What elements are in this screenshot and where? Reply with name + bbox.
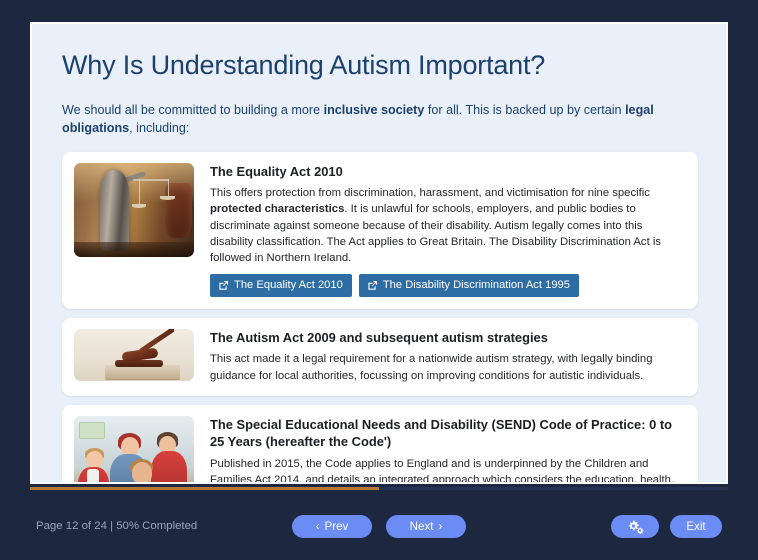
thumbnail-scales-of-justice bbox=[74, 163, 194, 257]
external-link-icon bbox=[218, 280, 229, 291]
external-link-icon bbox=[367, 280, 378, 291]
prev-button-label: Prev bbox=[325, 520, 349, 533]
intro-text-part1: We should all be committed to building a… bbox=[62, 103, 324, 117]
link-button-label: The Equality Act 2010 bbox=[234, 278, 343, 293]
intro-text-part3: , including: bbox=[129, 121, 189, 135]
progress-bar-fill bbox=[30, 487, 379, 490]
card-autism-act: The Autism Act 2009 and subsequent autis… bbox=[62, 318, 698, 396]
card-text: Published in 2015, the Code applies to E… bbox=[210, 456, 686, 484]
progress-bar-track bbox=[30, 487, 728, 490]
slide-panel: Why Is Understanding Autism Important? W… bbox=[30, 22, 728, 484]
scales-of-justice-icon bbox=[74, 163, 194, 257]
next-button[interactable]: Next › bbox=[386, 515, 466, 538]
footer-right-controls: Exit bbox=[611, 515, 722, 538]
card-text: This act made it a legal requirement for… bbox=[210, 351, 686, 384]
chevron-right-icon: › bbox=[438, 520, 442, 533]
next-button-label: Next bbox=[410, 520, 434, 533]
card-title: The Autism Act 2009 and subsequent autis… bbox=[210, 329, 686, 346]
gears-icon bbox=[627, 519, 644, 534]
link-button-label: The Disability Discrimination Act 1995 bbox=[383, 278, 570, 293]
card-equality-act: The Equality Act 2010 This offers protec… bbox=[62, 152, 698, 309]
intro-bold-inclusive-society: inclusive society bbox=[324, 103, 425, 117]
link-button-disability-discrimination-act-1995[interactable]: The Disability Discrimination Act 1995 bbox=[359, 274, 579, 297]
exit-button[interactable]: Exit bbox=[670, 515, 722, 538]
card-title: The Special Educational Needs and Disabi… bbox=[210, 416, 686, 451]
gavel-icon bbox=[74, 329, 194, 381]
prev-button[interactable]: ‹ Prev bbox=[292, 515, 372, 538]
card-send-code-of-practice: The Special Educational Needs and Disabi… bbox=[62, 405, 698, 484]
footer-bar: Page 12 of 24 | 50% Completed ‹ Prev Nex… bbox=[0, 492, 758, 560]
intro-paragraph: We should all be committed to building a… bbox=[62, 101, 698, 138]
card-text: This offers protection from discriminati… bbox=[210, 185, 686, 266]
intro-text-part2: for all. This is backed up by certain bbox=[424, 103, 625, 117]
card-text-bold: protected characteristics bbox=[210, 203, 344, 215]
settings-button[interactable] bbox=[611, 515, 659, 538]
teacher-with-children-icon bbox=[74, 416, 194, 484]
exit-button-label: Exit bbox=[686, 520, 705, 533]
link-button-equality-act-2010[interactable]: The Equality Act 2010 bbox=[210, 274, 352, 297]
card-link-buttons: The Equality Act 2010 The Disability Dis… bbox=[210, 274, 686, 297]
chevron-left-icon: ‹ bbox=[316, 520, 320, 533]
thumbnail-gavel-on-books bbox=[74, 329, 194, 381]
page-status-text: Page 12 of 24 | 50% Completed bbox=[36, 520, 197, 532]
card-title: The Equality Act 2010 bbox=[210, 163, 686, 180]
page-title: Why Is Understanding Autism Important? bbox=[62, 50, 698, 81]
thumbnail-classroom bbox=[74, 416, 194, 484]
card-text-part1: This offers protection from discriminati… bbox=[210, 187, 650, 199]
